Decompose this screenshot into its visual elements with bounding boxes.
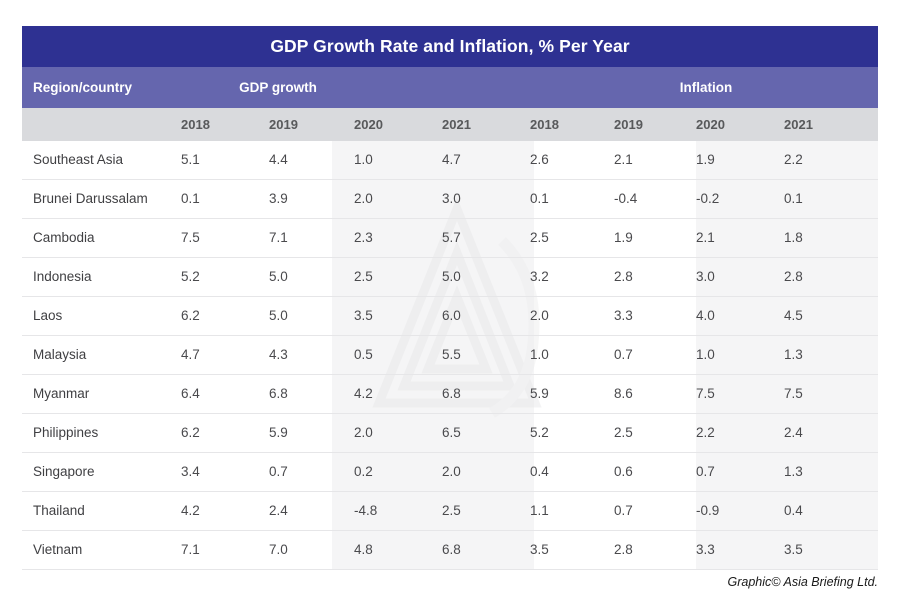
table-cell-value: 2.4 [269,492,288,530]
row-label-region: Indonesia [33,258,92,296]
table-body: Southeast Asia5.14.41.04.72.62.11.92.2Br… [22,141,878,570]
table-cell-value: 4.8 [354,531,373,569]
row-label-region: Singapore [33,453,95,491]
table-cell-value: 4.2 [181,492,200,530]
header-group-gdp-growth: GDP growth [22,67,534,108]
table-cell-value: 3.0 [696,258,715,296]
table-cell-value: 0.4 [784,492,803,530]
table-title: GDP Growth Rate and Inflation, % Per Yea… [22,26,878,67]
table-row: Philippines6.25.92.06.55.22.52.22.4 [22,414,878,453]
table-cell-value: 2.0 [442,453,461,491]
table-row: Vietnam7.17.04.86.83.52.83.33.5 [22,531,878,570]
table-cell-value: 2.8 [614,531,633,569]
table-cell-value: 6.8 [442,375,461,413]
row-label-region: Laos [33,297,62,335]
graphic-credit: Graphic© Asia Briefing Ltd. [728,575,878,589]
year-header-cell: 2019 [614,108,643,141]
row-label-region: Myanmar [33,375,89,413]
table-cell-value: 4.0 [696,297,715,335]
table-cell-value: 0.6 [614,453,633,491]
table-cell-value: 1.0 [354,141,373,179]
year-header-cell: 2019 [269,108,298,141]
table-row: Cambodia7.57.12.35.72.51.92.11.8 [22,219,878,258]
table-row: Indonesia5.25.02.55.03.22.83.02.8 [22,258,878,297]
table-row: Malaysia4.74.30.55.51.00.71.01.3 [22,336,878,375]
table-row: Southeast Asia5.14.41.04.72.62.11.92.2 [22,141,878,180]
table-cell-value: 0.5 [354,336,373,374]
year-header-cell: 2018 [181,108,210,141]
table-cell-value: 0.7 [696,453,715,491]
table-cell-value: 2.5 [530,219,549,257]
table-cell-value: 1.1 [530,492,549,530]
table-cell-value: 2.1 [614,141,633,179]
table-cell-value: 5.9 [269,414,288,452]
table-cell-value: 1.9 [696,141,715,179]
table-cell-value: 5.2 [181,258,200,296]
table-cell-value: 2.5 [354,258,373,296]
table-cell-value: -0.2 [696,180,719,218]
table-cell-value: 4.4 [269,141,288,179]
table-cell-value: 0.1 [530,180,549,218]
data-table: GDP Growth Rate and Inflation, % Per Yea… [22,26,878,570]
table-cell-value: 0.7 [614,492,633,530]
table-cell-value: 6.2 [181,414,200,452]
table-cell-value: 1.8 [784,219,803,257]
table-cell-value: -0.9 [696,492,719,530]
table-cell-value: 3.5 [354,297,373,335]
table-cell-value: 4.5 [784,297,803,335]
table-cell-value: 3.5 [530,531,549,569]
table-cell-value: 5.2 [530,414,549,452]
table-row: Thailand4.22.4-4.82.51.10.7-0.90.4 [22,492,878,531]
table-cell-value: 1.3 [784,336,803,374]
table-cell-value: 4.7 [442,141,461,179]
row-label-region: Vietnam [33,531,82,569]
table-row: Brunei Darussalam0.13.92.03.00.1-0.4-0.2… [22,180,878,219]
table-cell-value: 6.4 [181,375,200,413]
year-header-cell: 2021 [784,108,813,141]
group-header-row: Region/country GDP growth Inflation [22,67,878,108]
table-cell-value: 5.5 [442,336,461,374]
header-group-inflation: Inflation [534,67,878,108]
table-cell-value: 0.4 [530,453,549,491]
table-cell-value: 5.1 [181,141,200,179]
table-cell-value: 6.2 [181,297,200,335]
table-cell-value: 2.5 [442,492,461,530]
table-cell-value: 7.1 [269,219,288,257]
table-cell-value: 2.0 [530,297,549,335]
table-cell-value: 1.0 [530,336,549,374]
table-cell-value: 5.7 [442,219,461,257]
table-cell-value: -4.8 [354,492,377,530]
table-cell-value: 5.0 [269,258,288,296]
table-cell-value: 2.1 [696,219,715,257]
table-cell-value: 4.2 [354,375,373,413]
table-cell-value: 3.9 [269,180,288,218]
table-cell-value: 2.8 [784,258,803,296]
table-cell-value: 5.0 [269,297,288,335]
table-cell-value: 1.3 [784,453,803,491]
table-cell-value: 1.0 [696,336,715,374]
table-cell-value: -0.4 [614,180,637,218]
infographic-table-page: GDP Growth Rate and Inflation, % Per Yea… [0,0,900,615]
table-cell-value: 4.7 [181,336,200,374]
year-header-cell: 2020 [696,108,725,141]
table-cell-value: 2.4 [784,414,803,452]
table-row: Singapore3.40.70.22.00.40.60.71.3 [22,453,878,492]
year-header-cell: 2018 [530,108,559,141]
table-cell-value: 0.1 [784,180,803,218]
table-cell-value: 0.7 [269,453,288,491]
year-header-cell: 2021 [442,108,471,141]
year-header-cell: 2020 [354,108,383,141]
table-cell-value: 2.2 [784,141,803,179]
table-cell-value: 6.0 [442,297,461,335]
table-row: Laos6.25.03.56.02.03.34.04.5 [22,297,878,336]
table-cell-value: 6.5 [442,414,461,452]
row-label-region: Philippines [33,414,98,452]
table-cell-value: 7.0 [269,531,288,569]
row-label-region: Thailand [33,492,85,530]
table-cell-value: 2.0 [354,414,373,452]
table-cell-value: 0.7 [614,336,633,374]
table-cell-value: 3.3 [614,297,633,335]
table-cell-value: 2.2 [696,414,715,452]
table-cell-value: 7.5 [784,375,803,413]
table-cell-value: 2.0 [354,180,373,218]
table-cell-value: 7.1 [181,531,200,569]
table-cell-value: 1.9 [614,219,633,257]
table-cell-value: 3.5 [784,531,803,569]
table-cell-value: 3.0 [442,180,461,218]
table-cell-value: 5.9 [530,375,549,413]
table-cell-value: 7.5 [696,375,715,413]
table-cell-value: 2.3 [354,219,373,257]
table-cell-value: 0.1 [181,180,200,218]
table-row: Myanmar6.46.84.26.85.98.67.57.5 [22,375,878,414]
table-cell-value: 3.4 [181,453,200,491]
table-cell-value: 5.0 [442,258,461,296]
row-label-region: Brunei Darussalam [33,180,148,218]
row-label-region: Cambodia [33,219,95,257]
year-header-row: 20182019202020212018201920202021 [22,108,878,141]
row-label-region: Southeast Asia [33,141,123,179]
table-cell-value: 2.6 [530,141,549,179]
table-cell-value: 7.5 [181,219,200,257]
table-cell-value: 0.2 [354,453,373,491]
table-cell-value: 3.3 [696,531,715,569]
table-cell-value: 3.2 [530,258,549,296]
table-cell-value: 2.5 [614,414,633,452]
table-cell-value: 6.8 [269,375,288,413]
row-label-region: Malaysia [33,336,86,374]
table-cell-value: 4.3 [269,336,288,374]
table-cell-value: 8.6 [614,375,633,413]
table-cell-value: 6.8 [442,531,461,569]
table-cell-value: 2.8 [614,258,633,296]
